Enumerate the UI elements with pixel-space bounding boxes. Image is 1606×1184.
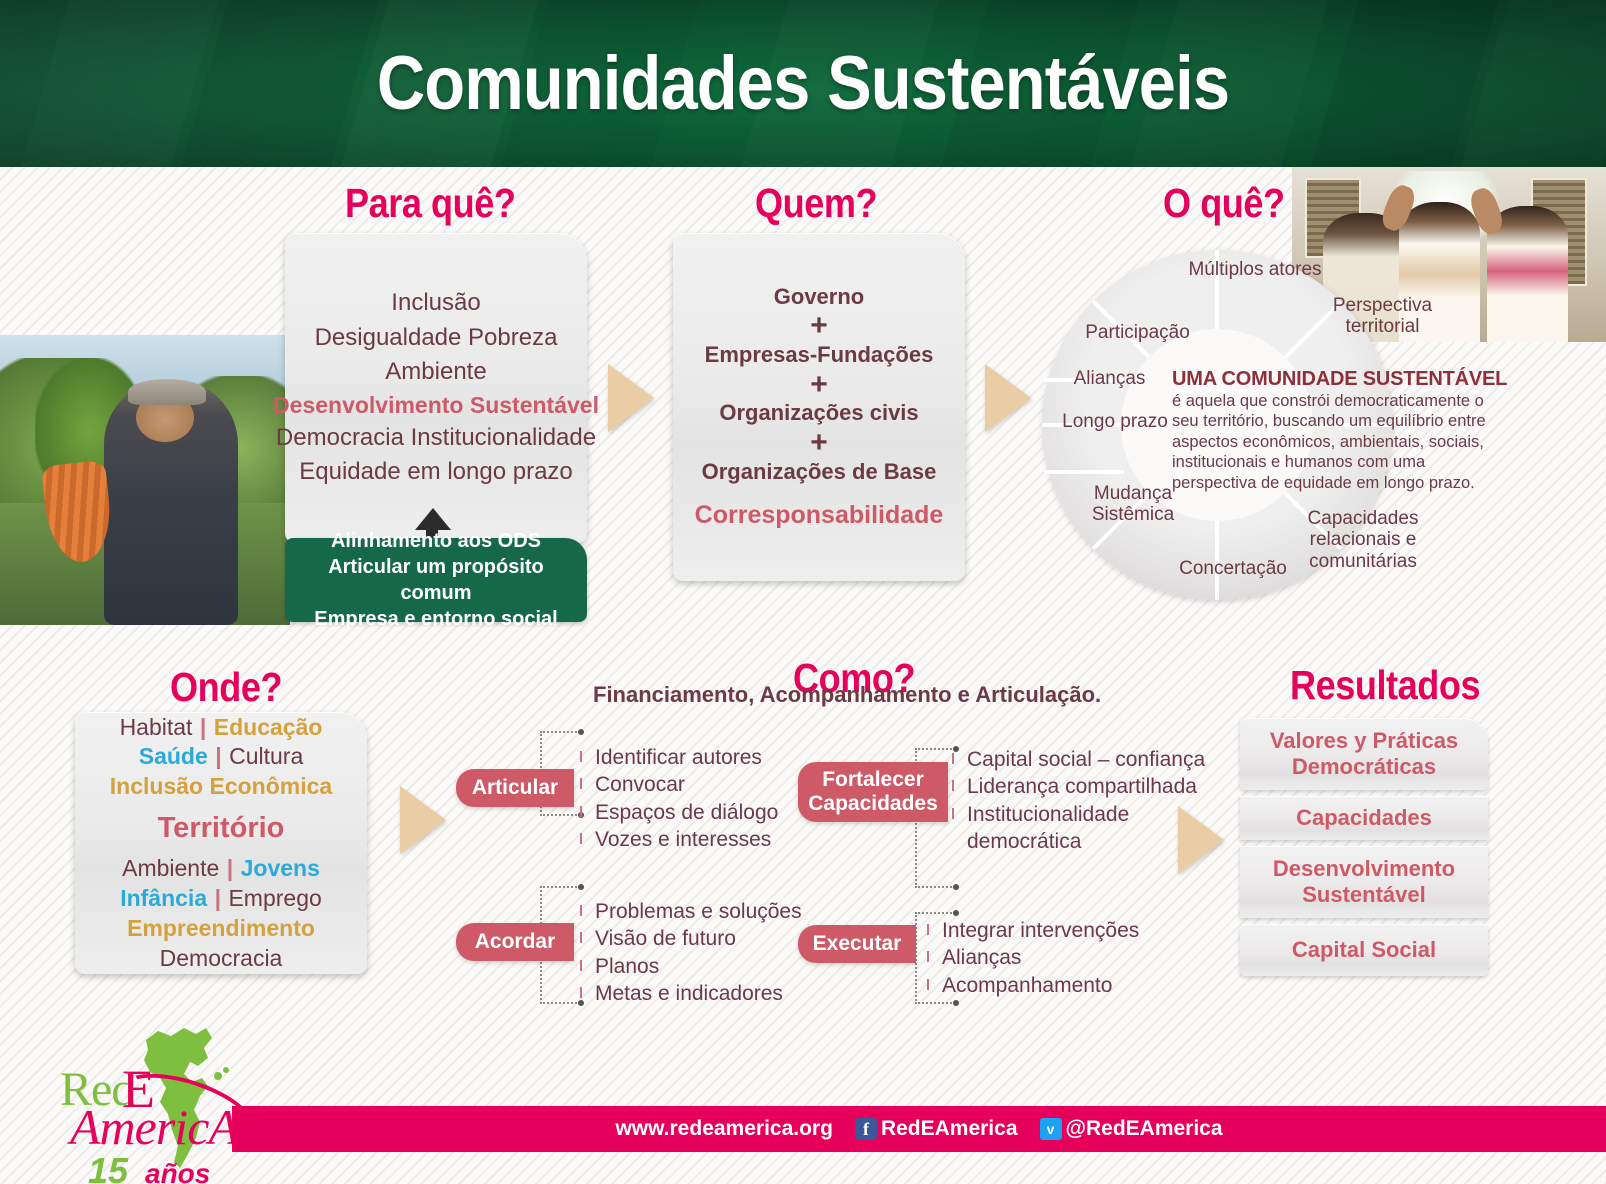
quem-item: Organizações de Base <box>702 459 937 486</box>
onde-item: Jovens <box>241 855 320 881</box>
footer-facebook[interactable]: f RedEAmerica <box>855 1117 1018 1141</box>
footer-website[interactable]: www.redeamerica.org <box>615 1117 832 1141</box>
heading-o-que: O quê? <box>1163 180 1285 227</box>
page-header: Comunidades Sustentáveis <box>0 0 1606 167</box>
bullet-item: Integrar intervenções <box>925 917 1139 944</box>
donut-label-perspectiva-territorial: Perspectiva territorial <box>1295 295 1470 338</box>
quem-item: Governo <box>774 284 864 311</box>
onde-item: Cultura <box>229 743 303 769</box>
step-pill-articular: Articular <box>456 769 574 807</box>
heading-quem: Quem? <box>755 180 877 227</box>
onde-row: Habitat | Educação <box>120 713 323 743</box>
bullets-articular: Identificar autores Convocar Espaços de … <box>578 744 778 853</box>
bullet-item: Institucionalidade democrática <box>950 801 1160 856</box>
heading-para-que: Para quê? <box>345 180 515 227</box>
onde-item: Saúde <box>139 743 208 769</box>
logo-years-number: 15 <box>88 1150 128 1184</box>
bullet-item: Visão de futuro <box>578 925 802 952</box>
ods-line: Alinhamento aos ODS <box>331 528 541 554</box>
bullet-item: Identificar autores <box>578 744 778 771</box>
plus-icon: + <box>810 427 828 459</box>
infographic-page: Comunidades Sustentáveis Para quê? Inclu… <box>0 0 1606 1184</box>
quem-list: Governo + Empresas-Fundações + Organizaç… <box>673 233 965 581</box>
footer-twitter[interactable]: ᴠ @RedEAmerica <box>1040 1117 1223 1141</box>
step-pill-acordar: Acordar <box>456 923 574 961</box>
onde-item: Empreendimento <box>127 915 315 941</box>
onde-center-word: Território <box>158 812 285 844</box>
onde-row: Empreendimento <box>127 914 315 944</box>
bullet-item: Espaços de diálogo <box>578 799 778 826</box>
onde-separator: | <box>212 885 224 911</box>
donut-label-longo-prazo: Longo prazo <box>1040 411 1190 432</box>
onde-separator: | <box>197 714 209 740</box>
heading-resultados: Resultados <box>1290 662 1480 709</box>
onde-item: Infância <box>120 885 207 911</box>
plus-icon: + <box>810 310 828 342</box>
onde-row-territorio: Território <box>158 810 285 848</box>
logo-years-word: años <box>145 1158 210 1184</box>
bullet-item: Metas e indicadores <box>578 980 802 1007</box>
resultado-row: Desenvolvimento Sustentável <box>1240 846 1488 918</box>
quem-item: Organizações civis <box>719 400 918 427</box>
page-title: Comunidades Sustentáveis <box>96 0 1509 167</box>
onde-item: Democracia <box>160 945 283 971</box>
quem-item: Empresas-Fundações <box>705 342 934 369</box>
para-que-item-highlight: Desenvolvimento Sustentável <box>273 389 599 422</box>
quem-final-label: Corresponsabilidade <box>695 501 944 530</box>
onde-item: Habitat <box>120 714 193 740</box>
onde-row: Democracia <box>160 944 283 974</box>
para-que-item: Equidade em longo prazo <box>299 455 573 489</box>
arrow-right-onde-to-como <box>400 786 446 854</box>
step-pill-executar: Executar <box>798 925 916 963</box>
donut-label-concertacao: Concertação <box>1148 558 1318 579</box>
facebook-handle: RedEAmerica <box>881 1117 1018 1141</box>
donut-label-multiplos-atores: Múltiplos atores <box>1160 259 1350 280</box>
onde-list: Habitat | Educação Saúde | Cultura Inclu… <box>75 712 367 974</box>
onde-item: Emprego <box>228 885 321 911</box>
onde-row: Saúde | Cultura <box>139 742 304 772</box>
ods-line: Articular um propósito comum <box>295 554 577 606</box>
panel-para-que: Inclusão Desigualdade Pobreza Ambiente D… <box>285 233 587 543</box>
bullets-fortalecer-capacidades: Capital social – confiança Liderança com… <box>950 746 1200 855</box>
panel-resultados: Valores y Práticas Democráticas Capacida… <box>1240 718 1488 976</box>
onde-item: Ambiente <box>122 855 219 881</box>
panel-onde: Habitat | Educação Saúde | Cultura Inclu… <box>75 712 367 974</box>
arrow-right-quem-to-o-que <box>985 364 1031 432</box>
twitter-handle: @RedEAmerica <box>1066 1117 1223 1141</box>
footer-bar: www.redeamerica.org f RedEAmerica ᴠ @Red… <box>232 1106 1606 1152</box>
arrow-right-para-que-to-quem <box>608 364 654 432</box>
onde-row: Infância | Emprego <box>120 884 322 914</box>
photo-farmer-with-carrots <box>0 335 290 625</box>
bullet-item: Capital social – confiança <box>950 746 1200 773</box>
para-que-item: Inclusão <box>391 286 480 320</box>
resultado-row: Capital Social <box>1240 924 1488 976</box>
onde-separator: | <box>224 855 236 881</box>
donut-center-text: UMA COMUNIDADE SUSTENTÁVEL é aquela que … <box>1172 368 1502 493</box>
resultado-row: Capacidades <box>1240 796 1488 840</box>
para-que-item: Desigualdade Pobreza <box>315 321 558 355</box>
como-subtitle: Financiamento, Acompanhamento e Articula… <box>593 682 1101 708</box>
bullet-item: Alianças <box>925 944 1139 971</box>
facebook-icon: f <box>855 1118 877 1140</box>
heading-onde: Onde? <box>170 664 282 711</box>
ods-line: Empresa e entorno social <box>314 606 557 632</box>
para-que-item: Democracia Institucionalidade <box>276 421 596 455</box>
twitter-icon: ᴠ <box>1040 1118 1062 1140</box>
logo-america-text: AmericA <box>70 1098 238 1156</box>
bullet-item: Convocar <box>578 771 778 798</box>
para-que-list: Inclusão Desigualdade Pobreza Ambiente D… <box>285 233 587 543</box>
onde-item: Educação <box>214 714 323 740</box>
step-pill-fortalecer-capacidades: Fortalecer Capacidades <box>798 762 948 822</box>
plus-icon: + <box>810 369 828 401</box>
donut-center-body: é aquela que constrói democraticamente o… <box>1172 391 1502 493</box>
donut-center-title: UMA COMUNIDADE SUSTENTÁVEL <box>1172 368 1502 391</box>
onde-row: Ambiente | Jovens <box>122 854 320 884</box>
onde-item: Inclusão Econômica <box>110 773 332 799</box>
donut-label-participacao: Participação <box>1060 322 1215 343</box>
para-que-item: Ambiente <box>385 355 486 389</box>
bullet-item: Planos <box>578 953 802 980</box>
resultado-row: Valores y Práticas Democráticas <box>1240 718 1488 790</box>
bullet-item: Problemas e soluções <box>578 898 802 925</box>
arrow-right-como-to-resultados <box>1178 806 1224 874</box>
bullets-acordar: Problemas e soluções Visão de futuro Pla… <box>578 898 802 1007</box>
onde-row: Inclusão Econômica <box>110 772 332 802</box>
panel-quem: Governo + Empresas-Fundações + Organizaç… <box>673 233 965 581</box>
onde-separator: | <box>212 743 224 769</box>
bullets-executar: Integrar intervenções Alianças Acompanha… <box>925 917 1139 999</box>
bullet-item: Liderança compartilhada <box>950 773 1200 800</box>
donut-label-aliancas: Alianças <box>1042 368 1177 389</box>
bullet-item: Acompanhamento <box>925 972 1139 999</box>
ods-alignment-box: Alinhamento aos ODS Articular um propósi… <box>285 538 587 622</box>
bullet-item: Vozes e interesses <box>578 826 778 853</box>
